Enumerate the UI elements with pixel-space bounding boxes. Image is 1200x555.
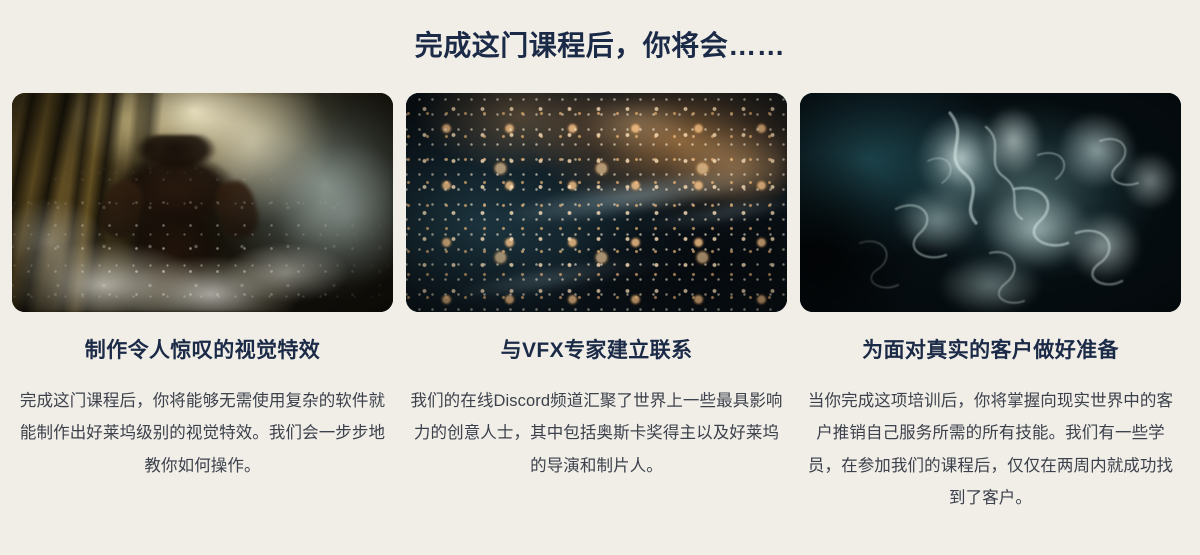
card-title: 与VFX专家建立联系: [406, 337, 787, 364]
card-body-text: 我们的在线Discord频道汇聚了世界上一些最具影响力的创意人士，其中包括奥斯卡…: [406, 385, 787, 482]
benefits-section: 完成这门课程后，你将会…… 制作令人惊叹的视觉特效 完成这门课程后，你将能够无需…: [0, 0, 1200, 555]
vignette-layer: [12, 93, 393, 312]
card-image-golden-bokeh-nebula: [406, 93, 787, 312]
card-image-warrior-running-through-water: [12, 93, 393, 312]
card-title: 制作令人惊叹的视觉特效: [12, 337, 393, 364]
card-title: 为面对真实的客户做好准备: [800, 337, 1181, 364]
vignette-layer: [406, 93, 787, 312]
benefit-card: 为面对真实的客户做好准备 当你完成这项培训后，你将掌握向现实世界中的客户推销自己…: [800, 93, 1181, 514]
card-image-teal-smoke-wisps: [800, 93, 1181, 312]
benefit-card: 与VFX专家建立联系 我们的在线Discord频道汇聚了世界上一些最具影响力的创…: [406, 93, 787, 482]
section-heading: 完成这门课程后，你将会……: [0, 28, 1200, 63]
card-body-text: 完成这门课程后，你将能够无需使用复杂的软件就能制作出好莱坞级别的视觉特效。我们会…: [12, 385, 393, 482]
benefit-card-grid: 制作令人惊叹的视觉特效 完成这门课程后，你将能够无需使用复杂的软件就能制作出好莱…: [12, 93, 1188, 514]
benefit-card: 制作令人惊叹的视觉特效 完成这门课程后，你将能够无需使用复杂的软件就能制作出好莱…: [12, 93, 393, 482]
card-body-text: 当你完成这项培训后，你将掌握向现实世界中的客户推销自己服务所需的所有技能。我们有…: [800, 385, 1181, 514]
vignette-layer: [800, 93, 1181, 312]
